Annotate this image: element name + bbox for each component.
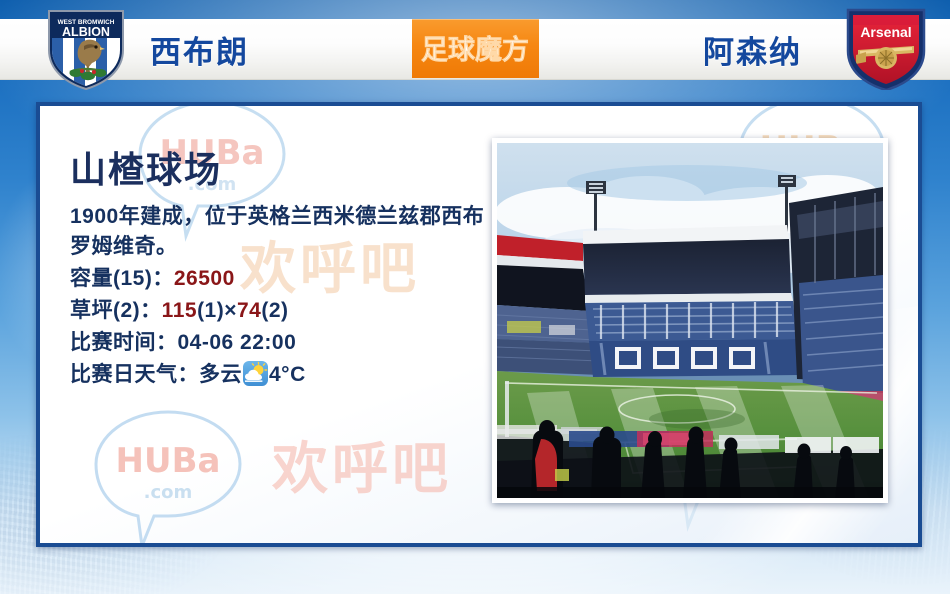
pitch-width-rank: (2) xyxy=(261,299,288,322)
home-team-name: 西布朗 xyxy=(150,27,249,72)
stadium-photo[interactable] xyxy=(492,138,888,503)
pitch-label: 草坪(2)： xyxy=(70,299,162,322)
stadium-description: 1900年建成，位于英格兰西米德兰兹郡西布罗姆维奇。 xyxy=(70,202,490,263)
away-team-name: 阿森纳 xyxy=(703,27,802,72)
match-time-label: 比赛时间： xyxy=(70,331,178,354)
stadium-info-card-screen: WEST BROMWICH ALBION 西布朗 足球魔方 阿森纳 xyxy=(0,0,950,594)
watermark-bubble-sub: .com xyxy=(144,482,193,503)
weather-temp: 4°C xyxy=(269,363,306,386)
pitch-length: 115 xyxy=(162,299,197,322)
weather-text: 多云 xyxy=(199,363,242,386)
away-crest-text: Arsenal xyxy=(860,24,911,40)
watermark-bubble-text: HUBa xyxy=(116,441,221,481)
pitch-width: 74 xyxy=(237,299,261,322)
weather-row: 比赛日天气：多云 4°C xyxy=(70,359,490,391)
pitch-row: 草坪(2)：115(1)×74(2) xyxy=(70,295,490,327)
pitch-length-rank: (1) xyxy=(197,299,224,322)
weather-label: 比赛日天气： xyxy=(70,363,199,386)
stadium-title: 山楂球场 xyxy=(70,152,490,188)
sun-behind-cloud-icon xyxy=(243,361,268,386)
match-header: WEST BROMWICH ALBION 西布朗 足球魔方 阿森纳 xyxy=(0,0,950,95)
stadium-photo-inner xyxy=(497,143,883,498)
away-team-crest[interactable]: Arsenal xyxy=(844,6,928,90)
stadium-info-block: 山楂球场 1900年建成，位于英格兰西米德兰兹郡西布罗姆维奇。 容量(15)：2… xyxy=(70,152,490,391)
pitch-separator: × xyxy=(224,299,237,322)
match-time-value: 04-06 22:00 xyxy=(178,331,297,354)
match-time-row: 比赛时间：04-06 22:00 xyxy=(70,327,490,359)
watermark-bubble: HUBa .com xyxy=(84,406,252,547)
capacity-row: 容量(15)：26500 xyxy=(70,263,490,295)
home-team-crest[interactable]: WEST BROMWICH ALBION xyxy=(44,6,128,90)
capacity-label: 容量(15)： xyxy=(70,267,174,290)
site-logo-text: 足球魔方 xyxy=(421,34,529,66)
home-crest-main-text: ALBION xyxy=(62,25,110,39)
site-logo[interactable]: 足球魔方 xyxy=(412,19,539,78)
capacity-value: 26500 xyxy=(174,267,235,290)
watermark-brand: 欢呼吧 xyxy=(272,424,452,505)
